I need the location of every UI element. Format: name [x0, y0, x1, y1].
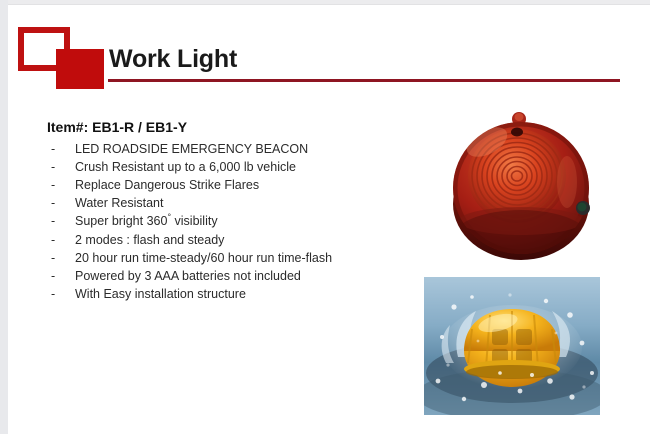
list-item: - 2 modes : flash and steady — [47, 231, 417, 249]
bullet-glyph: - — [51, 285, 55, 303]
list-item: - LED ROADSIDE EMERGENCY BEACON — [47, 140, 417, 158]
slide-header: Work Light — [9, 6, 650, 92]
bullet-glyph: - — [51, 176, 55, 194]
red-beacon-product-photo — [425, 108, 617, 276]
feature-text: With Easy installation structure — [75, 287, 246, 301]
amber-beacon-water-illustration — [424, 277, 600, 415]
feature-text: Water Resistant — [75, 196, 163, 210]
specification-block: Item#: EB1-R / EB1-Y - LED ROADSIDE EMER… — [47, 119, 417, 303]
feature-text-main: Super bright 360 — [75, 214, 167, 228]
feature-text-suffix: visibility — [171, 214, 218, 228]
item-number-label: Item#: EB1-R / EB1-Y — [47, 119, 417, 137]
feature-text: Super bright 360° visibility — [75, 214, 218, 228]
bullet-glyph: - — [51, 249, 55, 267]
bullet-glyph: - — [51, 267, 55, 285]
page-gutter-left — [0, 0, 8, 434]
overlapping-squares-logo — [18, 27, 104, 89]
list-item: - Powered by 3 AAA batteries not include… — [47, 267, 417, 285]
slide-canvas: Work Light Item#: EB1-R / EB1-Y - LED RO… — [9, 6, 650, 434]
feature-text: 20 hour run time-steady/60 hour run time… — [75, 251, 332, 265]
bullet-glyph: - — [51, 158, 55, 176]
list-item: - With Easy installation structure — [47, 285, 417, 303]
page-title: Work Light — [109, 47, 237, 72]
list-item: - Crush Resistant up to a 6,000 lb vehic… — [47, 158, 417, 176]
list-item: - Super bright 360° visibility — [47, 212, 417, 230]
red-beacon-illustration — [425, 108, 617, 276]
bullet-glyph: - — [51, 194, 55, 212]
list-item: - Water Resistant — [47, 194, 417, 212]
feature-list: - LED ROADSIDE EMERGENCY BEACON - Crush … — [47, 140, 417, 304]
logo-filled-square-icon — [56, 49, 104, 89]
title-underline-rule — [108, 79, 620, 82]
bullet-glyph: - — [51, 231, 55, 249]
feature-text: LED ROADSIDE EMERGENCY BEACON — [75, 142, 308, 156]
page-gutter-top — [8, 0, 650, 5]
bullet-glyph: - — [51, 140, 55, 158]
list-item: - Replace Dangerous Strike Flares — [47, 176, 417, 194]
feature-text: Crush Resistant up to a 6,000 lb vehicle — [75, 160, 296, 174]
feature-text: 2 modes : flash and steady — [75, 233, 224, 247]
amber-beacon-water-splash-photo — [424, 277, 600, 415]
feature-text: Replace Dangerous Strike Flares — [75, 178, 259, 192]
list-item: - 20 hour run time-steady/60 hour run ti… — [47, 249, 417, 267]
feature-text: Powered by 3 AAA batteries not included — [75, 269, 301, 283]
bullet-glyph: - — [51, 212, 55, 230]
